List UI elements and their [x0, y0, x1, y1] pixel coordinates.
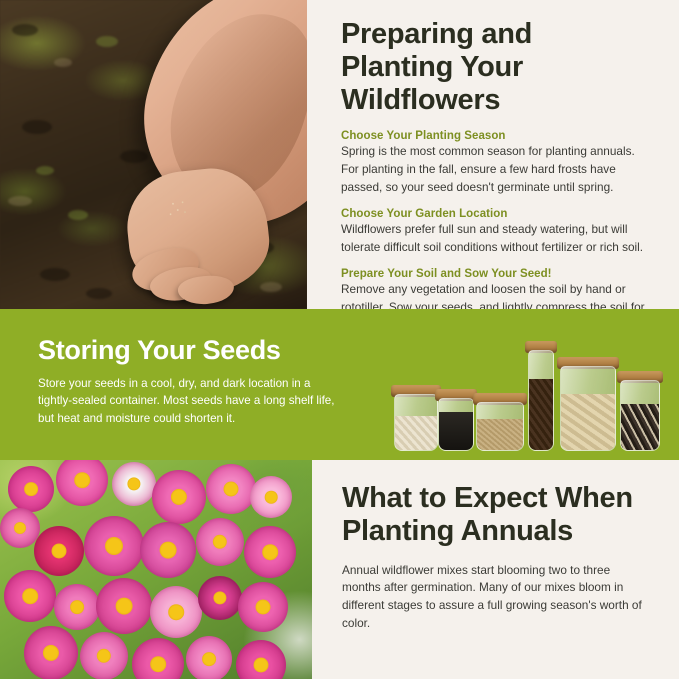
section-what-to-expect: What to Expect When Planting Annuals Ann… [0, 460, 679, 679]
subheading-prepare-soil: Prepare Your Soil and Sow Your Seed! [341, 268, 651, 280]
seed-jar [438, 389, 474, 451]
storing-body: Store your seeds in a cool, dry, and dar… [38, 375, 338, 429]
subheading-planting-season: Choose Your Planting Season [341, 130, 651, 142]
image-pink-zinnias [0, 460, 312, 679]
infographic-page: Preparing and Planting Your Wildflowers … [0, 0, 679, 679]
seed-jar [528, 341, 554, 451]
seeds-in-hand [164, 196, 194, 222]
storing-text-panel: Storing Your Seeds Store your seeds in a… [38, 335, 338, 428]
expect-title: What to Expect When Planting Annuals [342, 482, 649, 548]
text-block-garden-location: Choose Your Garden Location Wildflowers … [341, 208, 651, 257]
seed-jar [560, 357, 616, 451]
image-hand-sowing-seeds-in-soil [0, 0, 307, 309]
seed-jar [476, 393, 524, 451]
expect-text-panel: What to Expect When Planting Annuals Ann… [312, 460, 679, 679]
glass-body [476, 402, 524, 451]
body-planting-season: Spring is the most common season for pla… [341, 143, 651, 197]
glass-body [560, 366, 616, 451]
seed-jar [394, 385, 438, 451]
text-block-planting-season: Choose Your Planting Season Spring is th… [341, 130, 651, 197]
subheading-garden-location: Choose Your Garden Location [341, 208, 651, 220]
section-preparing-and-planting: Preparing and Planting Your Wildflowers … [0, 0, 679, 309]
preparing-text-panel: Preparing and Planting Your Wildflowers … [307, 0, 679, 309]
glass-body [620, 380, 660, 451]
seed-jar [620, 371, 660, 451]
storing-title: Storing Your Seeds [38, 335, 338, 366]
image-seed-jars [390, 325, 662, 451]
glass-body [528, 350, 554, 451]
expect-body: Annual wildflower mixes start blooming t… [342, 562, 649, 634]
glass-body [438, 398, 474, 451]
section-storing-your-seeds: Storing Your Seeds Store your seeds in a… [0, 309, 679, 460]
body-garden-location: Wildflowers prefer full sun and steady w… [341, 221, 651, 257]
preparing-title: Preparing and Planting Your Wildflowers [341, 18, 651, 116]
glass-body [394, 394, 438, 451]
